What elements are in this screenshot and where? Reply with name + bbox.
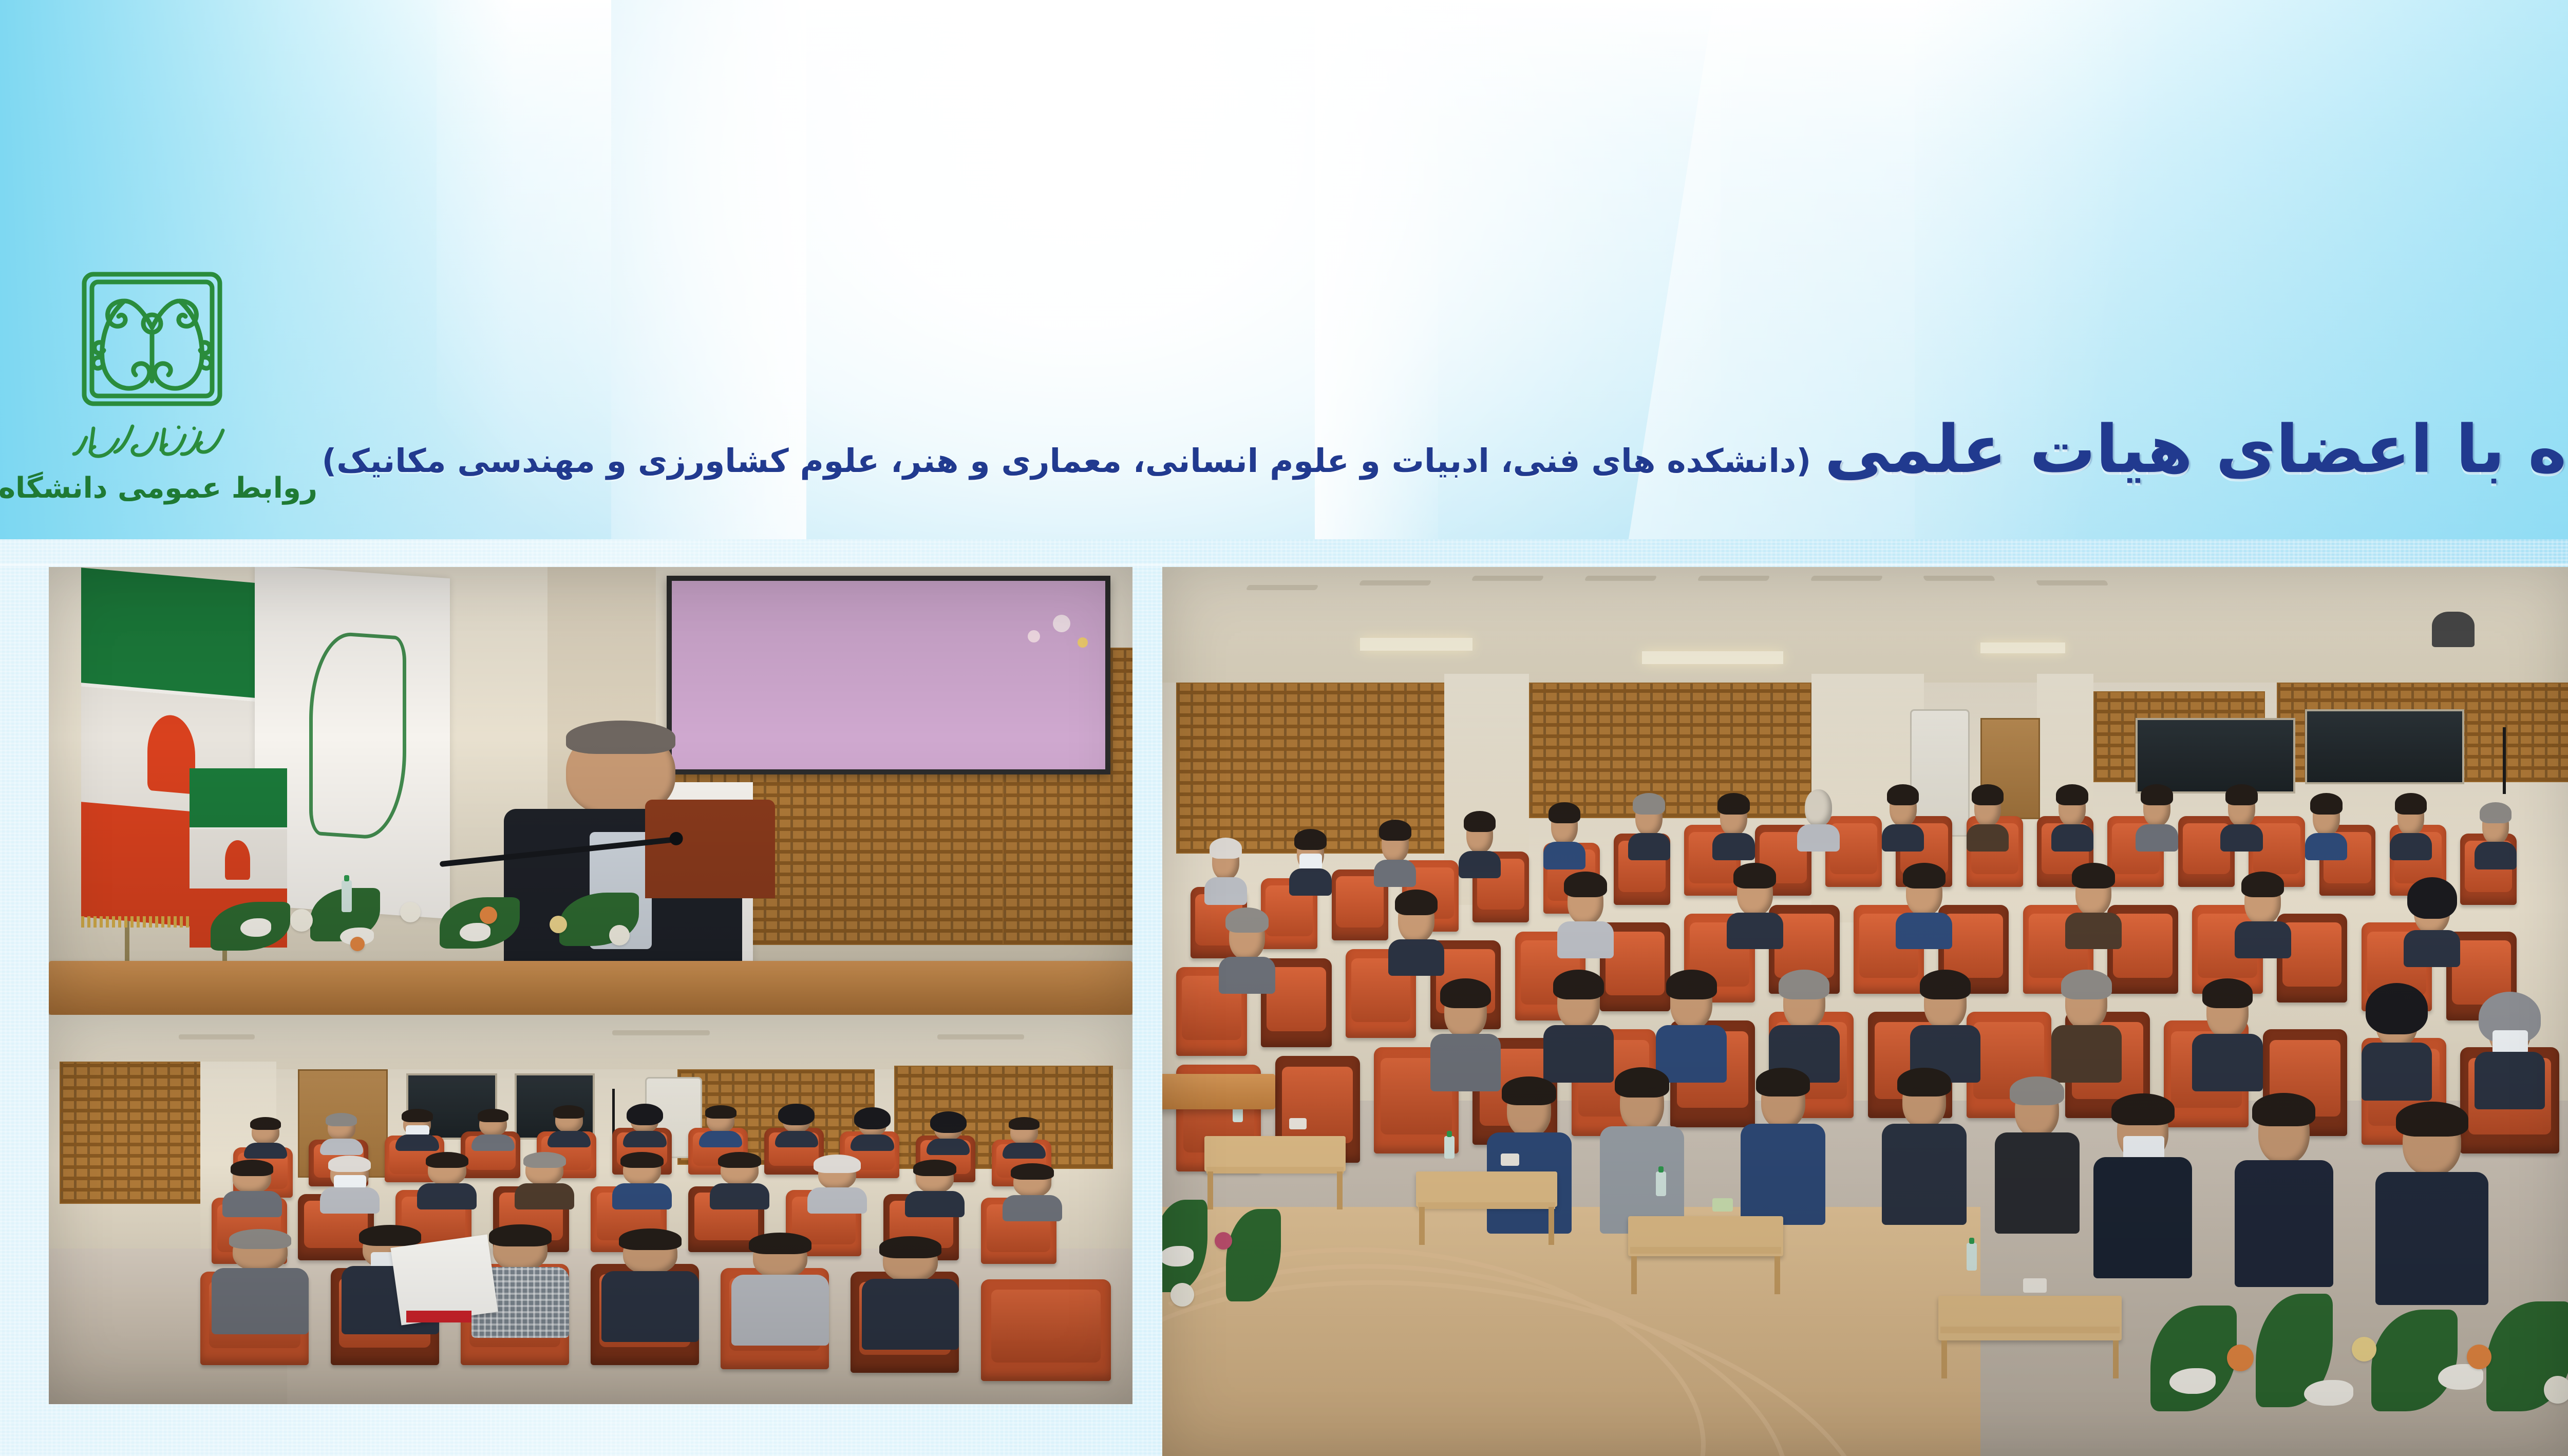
photo-speaker-podium: [49, 567, 1132, 1015]
photo-column-left: [49, 567, 1132, 1404]
photo-audience-left: [49, 1015, 1132, 1404]
logo-block: روابط عمومی دانشگاه گیلان: [30, 267, 297, 505]
headline-main-text: نشست هم اندیشی رئیس دانشگاه با اعضای هیا…: [1824, 417, 2568, 483]
university-emblem-icon: [75, 267, 229, 426]
photo-grid: [0, 567, 2568, 1420]
logo-wordmark-icon: [71, 420, 235, 466]
public-relations-label: روابط عمومی دانشگاه گیلان: [30, 471, 317, 505]
background-divider-line: [0, 564, 2568, 566]
headline: نشست هم اندیشی رئیس دانشگاه با اعضای هیا…: [322, 417, 2568, 483]
photo-hall-wide: [1162, 567, 2568, 1456]
photo-column-center: [1162, 567, 2568, 1456]
event-banner: روابط عمومی دانشگاه گیلان نشست هم اندیشی…: [0, 0, 2568, 1456]
headline-sub-text: (دانشکده های فنی، ادبیات و علوم انسانی، …: [322, 445, 1811, 477]
